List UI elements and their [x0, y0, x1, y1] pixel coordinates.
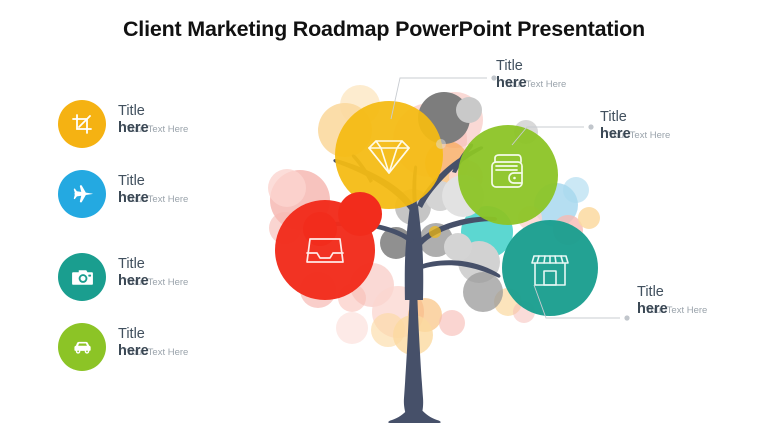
list-item[interactable]: Title Your Text Here here [55, 170, 275, 222]
callout-title: Title [637, 283, 664, 301]
list-item-text: Title Your Text Here here [118, 172, 278, 218]
list-item[interactable]: Title Your Text Here here [55, 253, 275, 305]
node-diamond[interactable] [335, 101, 443, 209]
node-store[interactable] [502, 220, 598, 316]
slide-canvas: Client Marketing Roadmap PowerPoint Pres… [0, 0, 768, 432]
list-item-title: Title [118, 102, 145, 120]
callout-item-2[interactable]: Title Your Text Here here [600, 108, 768, 152]
icon-badge-crop[interactable] [58, 100, 106, 148]
callout-item-3[interactable]: Title Your Text Here here [637, 283, 768, 327]
list-item-title: Title [118, 255, 145, 273]
node-wallet[interactable] [458, 125, 558, 225]
airplane-icon [70, 182, 95, 207]
callout-item-1[interactable]: Title Your Text Here here [496, 57, 676, 101]
list-item-text: Title Your Text Here here [118, 325, 278, 371]
list-item[interactable]: Title Your Text Here here [55, 323, 275, 375]
crop-icon [70, 112, 94, 136]
callout-here: here [637, 300, 668, 318]
list-item[interactable]: Title Your Text Here here [55, 100, 275, 152]
list-item-here: here [118, 272, 149, 290]
list-item-title: Title [118, 172, 145, 190]
camera-icon [70, 265, 95, 290]
list-item-here: here [118, 119, 149, 137]
callout-title: Title [496, 57, 523, 75]
icon-badge-car[interactable] [58, 323, 106, 371]
list-item-text: Title Your Text Here here [118, 102, 278, 148]
callout-here: here [496, 74, 527, 92]
list-item-here: here [118, 342, 149, 360]
icon-badge-camera[interactable] [58, 253, 106, 301]
list-item-title: Title [118, 325, 145, 343]
list-item-text: Title Your Text Here here [118, 255, 278, 301]
list-item-here: here [118, 189, 149, 207]
car-icon [69, 334, 95, 360]
icon-badge-airplane[interactable] [58, 170, 106, 218]
callout-title: Title [600, 108, 627, 126]
callout-here: here [600, 125, 631, 143]
